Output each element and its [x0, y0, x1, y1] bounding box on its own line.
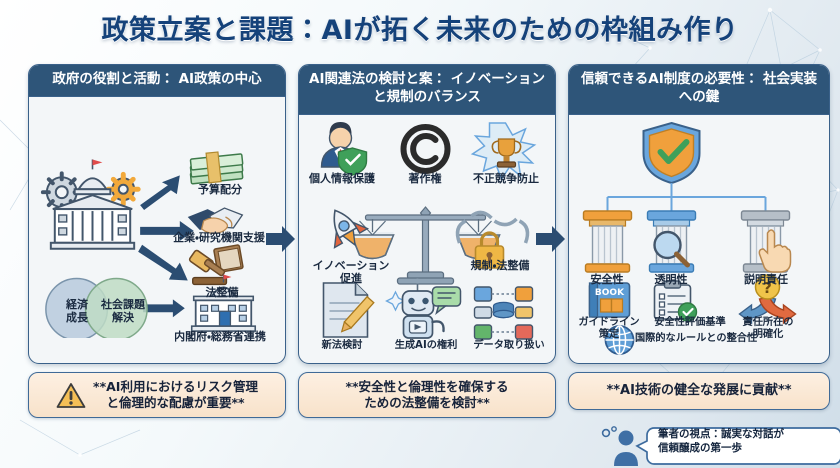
label-safety-criteria: 安全性評価基準: [647, 317, 733, 329]
arrow-col2-to-col3: [536, 224, 566, 254]
banner-healthy-development-text: **AI技術の健全な発展に貢献**: [606, 383, 791, 400]
label-cabinet-cooperation: 内閣府・総務省連携: [155, 330, 285, 343]
svg-text:BOOK: BOOK: [595, 288, 625, 298]
banner-legal-framework-text: **安全性と倫理性を確保する ための法整備を検討**: [345, 379, 508, 412]
panel-government: 政府の役割と活動： AI政策の中心: [28, 64, 286, 364]
panel-ai-law: AI関連法の検討と案： イノベーションと規制のバランス: [298, 64, 556, 364]
panel-government-header: 政府の役割と活動： AI政策の中心: [29, 65, 285, 97]
page-title: 政策立案と課題：AIが拓く未来のための枠組み作り: [0, 8, 840, 47]
label-legislation: 法整備: [184, 286, 260, 299]
data-nodes-icon: [475, 287, 533, 339]
author-note: 筆者の視点：誠実な対話が 信頼醸成の第一歩: [596, 424, 840, 468]
gear-right-icon: [108, 174, 138, 204]
label-innovation: イノベーション 促進: [303, 259, 399, 285]
arrow-col1-to-col2: [266, 224, 296, 254]
author-note-text: 筆者の視点：誠実な対話が 信頼醸成の第一歩: [658, 428, 834, 456]
tree-connectors: [608, 183, 766, 211]
pillar-magnifier-icon: [648, 211, 696, 272]
panel-trusted-ai-header: 信頼できるAI制度の必要性： 社会実装への鍵: [569, 65, 829, 115]
trophy-burst-icon: [473, 123, 535, 179]
label-copyright: 著作権: [391, 172, 459, 185]
panel-trusted-ai: 信頼できるAI制度の必要性： 社会実装への鍵: [568, 64, 830, 364]
label-social-issues: 社会課題 解決: [93, 298, 153, 324]
label-data-handling: データ取り扱い: [467, 340, 551, 352]
label-regulation: 規制・法整備: [451, 259, 549, 272]
pillar-orange-icon: [584, 211, 632, 272]
label-transparency: 透明性: [643, 273, 699, 286]
person-shield-icon: [322, 122, 367, 175]
panel-government-body: 予算配分 企業・研究機関支援 法整備 経済 成長 社会課題 解決 内閣府・総務省…: [29, 97, 285, 338]
document-pencil-icon: [324, 283, 374, 337]
label-accountability: 説明責任: [737, 273, 795, 286]
panel-ai-law-header: AI関連法の検討と案： イノベーションと規制のバランス: [299, 65, 555, 115]
money-stack-icon: [190, 152, 242, 184]
label-support: 企業・研究機関支援: [155, 231, 283, 244]
person-thought-icon: [603, 427, 638, 466]
clipboard-check-icon: [655, 281, 697, 321]
banner-healthy-development: **AI技術の健全な発展に貢献**: [568, 372, 830, 410]
panel-trusted-ai-body: BOOK: [569, 115, 829, 356]
label-international-rules: 国際的なルールとの整合性: [635, 333, 801, 345]
warning-triangle-icon: [56, 382, 86, 409]
handshake-icon: [188, 208, 243, 233]
robot-chat-icon: [387, 278, 461, 338]
label-budget: 予算配分: [184, 183, 256, 196]
label-genai-rights: 生成AIの権利: [383, 340, 469, 352]
banner-legal-framework: **安全性と倫理性を確保する ための法整備を検討**: [298, 372, 556, 418]
copyright-icon: [404, 127, 448, 171]
infographic-canvas: 政策立案と課題：AIが拓く未来のための枠組み作り 政府の役割と活動： AI政策の…: [0, 0, 840, 468]
banner-risk-management: **AI利用におけるリスク管理 と倫理的な配慮が重要**: [28, 372, 286, 418]
label-privacy-protection: 個人情報保護: [301, 172, 383, 185]
book-icon: BOOK: [590, 283, 630, 317]
banner-risk-management-text: **AI利用におけるリスク管理 と倫理的な配慮が重要**: [93, 379, 258, 412]
shield-check-icon: [644, 123, 700, 183]
label-safety: 安全性: [579, 273, 635, 286]
label-new-law: 新法検討: [305, 340, 379, 352]
panel-ai-law-body: 個人情報保護 著作権 不正競争防止 イノベーション 促進 規制・法整備 新法検討…: [299, 115, 555, 356]
pillar-hand-icon: [742, 211, 791, 272]
label-unfair-competition: 不正競争防止: [461, 172, 551, 185]
gavel-book-icon: [189, 245, 243, 285]
